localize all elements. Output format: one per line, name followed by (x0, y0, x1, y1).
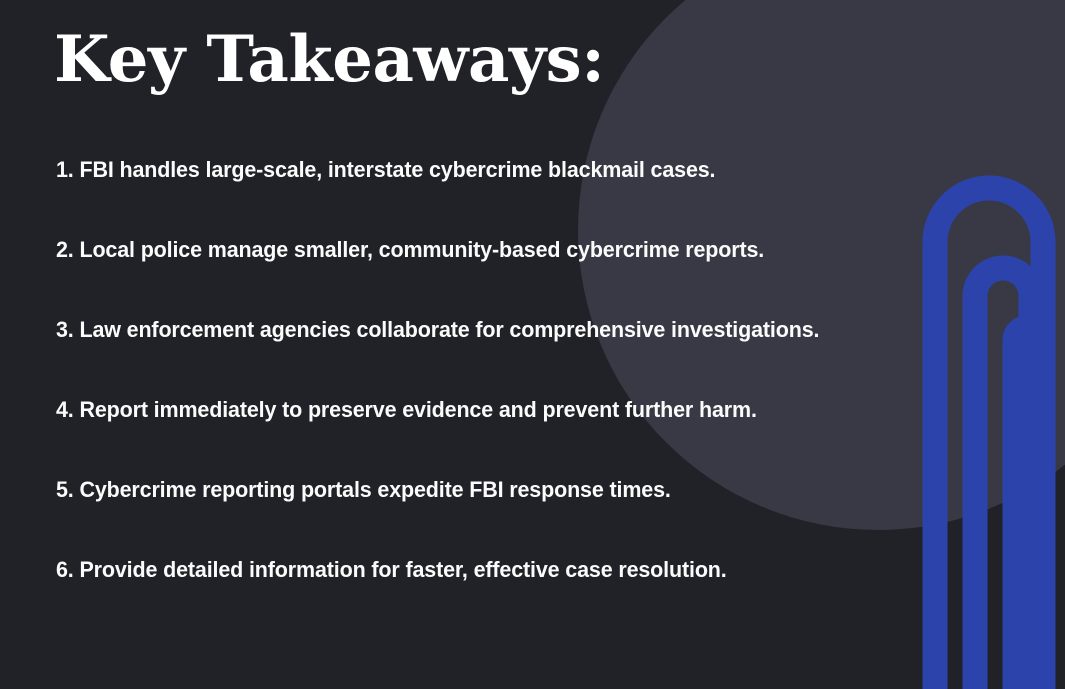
list-item: 3. Law enforcement agencies collaborate … (56, 312, 876, 392)
list-item: 4. Report immediately to preserve eviden… (56, 392, 876, 472)
list-item: 1. FBI handles large-scale, interstate c… (56, 152, 876, 232)
slide-content: Key Takeaways: 1. FBI handles large-scal… (0, 0, 1065, 689)
list-item: 5. Cybercrime reporting portals expedite… (56, 472, 876, 552)
takeaways-list: 1. FBI handles large-scale, interstate c… (56, 152, 915, 632)
list-item: 6. Provide detailed information for fast… (56, 552, 876, 632)
list-item: 2. Local police manage smaller, communit… (56, 232, 876, 312)
slide-canvas: Key Takeaways: 1. FBI handles large-scal… (0, 0, 1065, 689)
page-title: Key Takeaways: (54, 22, 604, 98)
